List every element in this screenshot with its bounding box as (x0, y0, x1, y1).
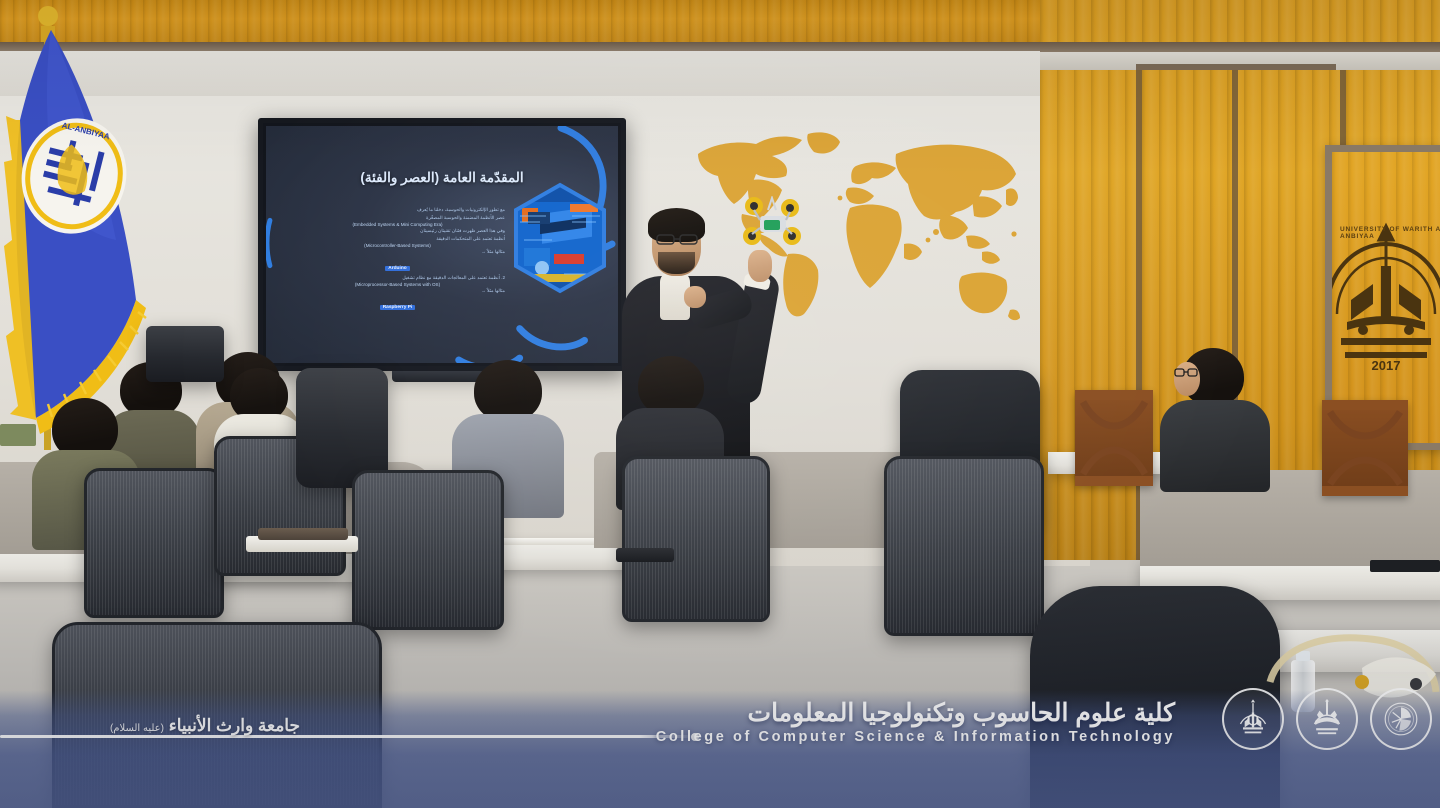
banner-university-suffix-ar: (عليه السلام) (110, 723, 164, 734)
university-seal-logo (1222, 688, 1284, 750)
banner-college-name-en: College of Computer Science & Informatio… (656, 729, 1175, 745)
branding-banner-content: جامعة وارث الأنبياء (عليه السلام) كلية ع… (0, 0, 1440, 808)
banner-logo-group (1222, 688, 1432, 750)
banner-university-name-ar: جامعة وارث الأنبياء (169, 716, 300, 735)
banner-university-name: جامعة وارث الأنبياء (عليه السلام) (10, 716, 300, 736)
university-seal-icon (1233, 699, 1273, 739)
screenshot-root: 2017 UNIVERSITY OF WARITH AL-ANBIYAA (0, 0, 1440, 808)
faculty-emblem-logo (1370, 688, 1432, 750)
college-seal-logo (1296, 688, 1358, 750)
college-seal-icon (1307, 699, 1347, 739)
banner-college-name-ar: كلية علوم الحاسوب وتكنولوجيا المعلومات (748, 698, 1175, 728)
faculty-emblem-icon (1381, 699, 1421, 739)
